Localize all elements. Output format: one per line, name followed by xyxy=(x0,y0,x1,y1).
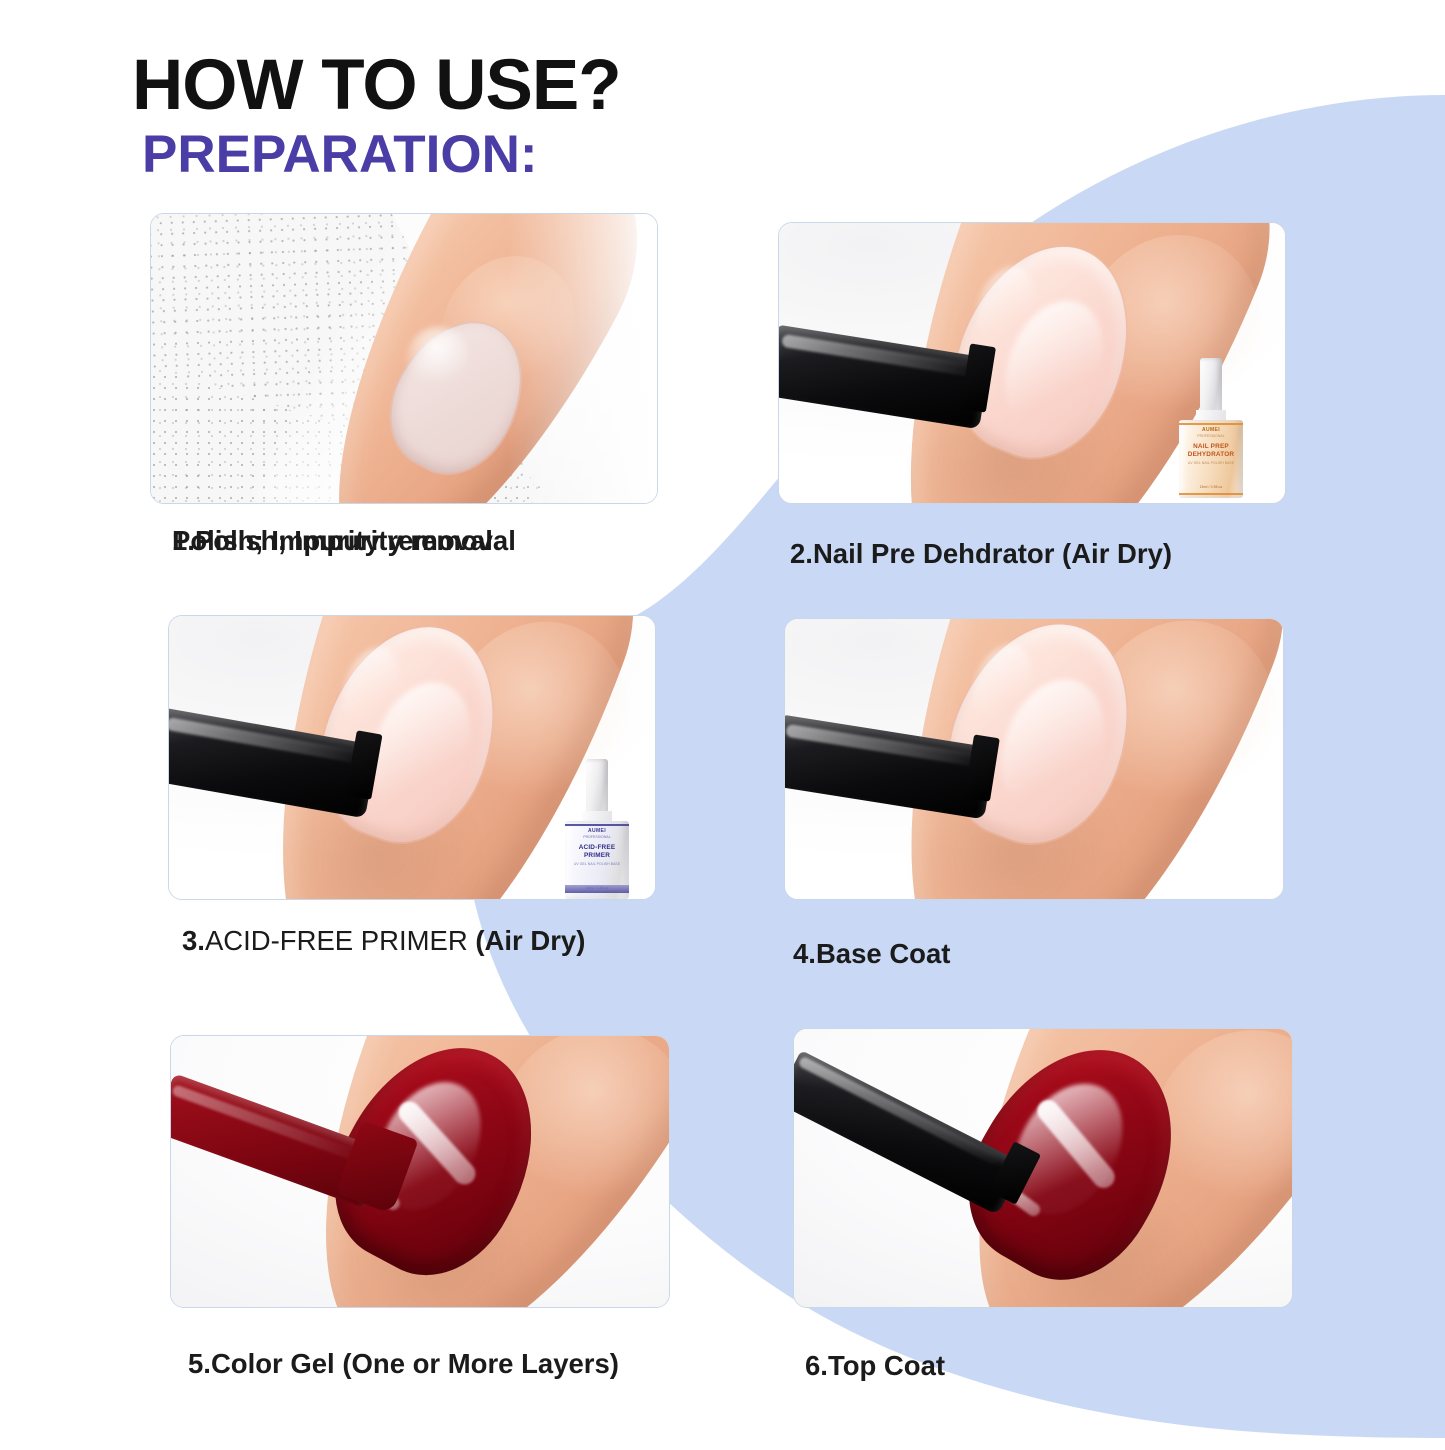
bottle-cap xyxy=(586,759,608,817)
step-5-image xyxy=(170,1035,670,1308)
bottle-subtitle: UV GEL NAIL POLISH BASE xyxy=(565,863,629,867)
step-2-label: Nail Pre Dehdrator (Air Dry) xyxy=(813,538,1172,569)
step-1-number: 1. xyxy=(172,525,195,556)
step-5-label: Color Gel (One or More Layers) xyxy=(211,1348,619,1379)
page-title: HOW TO USE? xyxy=(132,52,621,121)
step-6-number: 6. xyxy=(805,1350,828,1381)
step-3-label: ACID-FREE PRIMER xyxy=(205,925,475,956)
bottle-body: AUMEI PROFESSIONAL ACID-FREE PRIMER UV G… xyxy=(565,821,629,899)
acid-free-primer-bottle: AUMEI PROFESSIONAL ACID-FREE PRIMER UV G… xyxy=(565,759,629,899)
bottle-name-line1: ACID-FREE xyxy=(565,845,629,852)
step-6-caption-row: 6.Top Coat xyxy=(805,1350,945,1382)
bottle-stripe-bottom xyxy=(1179,493,1243,495)
step-3-caption-row: 3.ACID-FREE PRIMER (Air Dry) xyxy=(182,925,585,957)
bottle-subtitle: UV GEL NAIL POLISH BASE xyxy=(1179,462,1243,466)
scene-dehydrator: AUMEI PROFESSIONAL NAIL PREP DEHYDRATOR … xyxy=(779,223,1285,503)
step-2-caption-row: 2.Nail Pre Dehdrator (Air Dry) xyxy=(790,538,1172,570)
step-3-label-bold: (Air Dry) xyxy=(475,925,585,956)
scene-base-coat xyxy=(785,619,1283,899)
bottle-stripe-top xyxy=(1179,423,1243,425)
step-4-label: Base Coat xyxy=(816,938,951,969)
step-4-image xyxy=(784,618,1284,900)
studio-falloff xyxy=(507,214,657,503)
step-1-caption-row: 1.Polish; Impurity removal xyxy=(172,525,516,557)
bottle-brand-sub: PROFESSIONAL xyxy=(1179,435,1243,439)
bottle-name-line2: DEHYDRATOR xyxy=(1179,452,1243,459)
bottle-volume: 15ml / 0.5fl.oz xyxy=(1179,486,1243,490)
step-4-caption-row: 4.Base Coat xyxy=(793,938,950,970)
step-6-label: Top Coat xyxy=(828,1350,945,1381)
page-subtitle: PREPARATION: xyxy=(132,121,621,183)
step-6-image xyxy=(793,1028,1293,1308)
bottle-body: AUMEI PROFESSIONAL NAIL PREP DEHYDRATOR … xyxy=(1179,420,1243,498)
steps-grid: Polish; Impurity removal 1.Polish; Impur… xyxy=(0,0,1445,1445)
bottle-name-line1: NAIL PREP xyxy=(1179,444,1243,451)
bottle-stripe-top xyxy=(565,824,629,826)
scene-top-coat xyxy=(794,1029,1292,1307)
bottle-brand-sub: PROFESSIONAL xyxy=(565,836,629,840)
step-3-image: AUMEI PROFESSIONAL ACID-FREE PRIMER UV G… xyxy=(168,615,656,900)
step-3-number: 3. xyxy=(182,925,205,956)
bottle-name-line2: PRIMER xyxy=(565,853,629,860)
scene-polish xyxy=(151,214,657,503)
step-4-number: 4. xyxy=(793,938,816,969)
nail-prep-dehydrator-bottle: AUMEI PROFESSIONAL NAIL PREP DEHYDRATOR … xyxy=(1179,358,1243,498)
how-to-use-infographic: HOW TO USE? PREPARATION: xyxy=(0,0,1445,1445)
bottle-cap xyxy=(1200,358,1222,416)
bottle-stripe-bottom xyxy=(565,885,629,893)
bottle-brand: AUMEI xyxy=(565,829,629,834)
step-2-number: 2. xyxy=(790,538,813,569)
step-2-image: AUMEI PROFESSIONAL NAIL PREP DEHYDRATOR … xyxy=(778,222,1286,504)
step-1-image xyxy=(150,213,658,504)
scene-color-gel xyxy=(171,1036,669,1307)
step-5-caption-row: 5.Color Gel (One or More Layers) xyxy=(188,1348,619,1380)
header-block: HOW TO USE? PREPARATION: xyxy=(132,52,621,183)
step-1-label: Polish; Impurity removal xyxy=(195,525,516,556)
step-5-number: 5. xyxy=(188,1348,211,1379)
scene-primer: AUMEI PROFESSIONAL ACID-FREE PRIMER UV G… xyxy=(169,616,655,899)
bottle-brand: AUMEI xyxy=(1179,428,1243,433)
